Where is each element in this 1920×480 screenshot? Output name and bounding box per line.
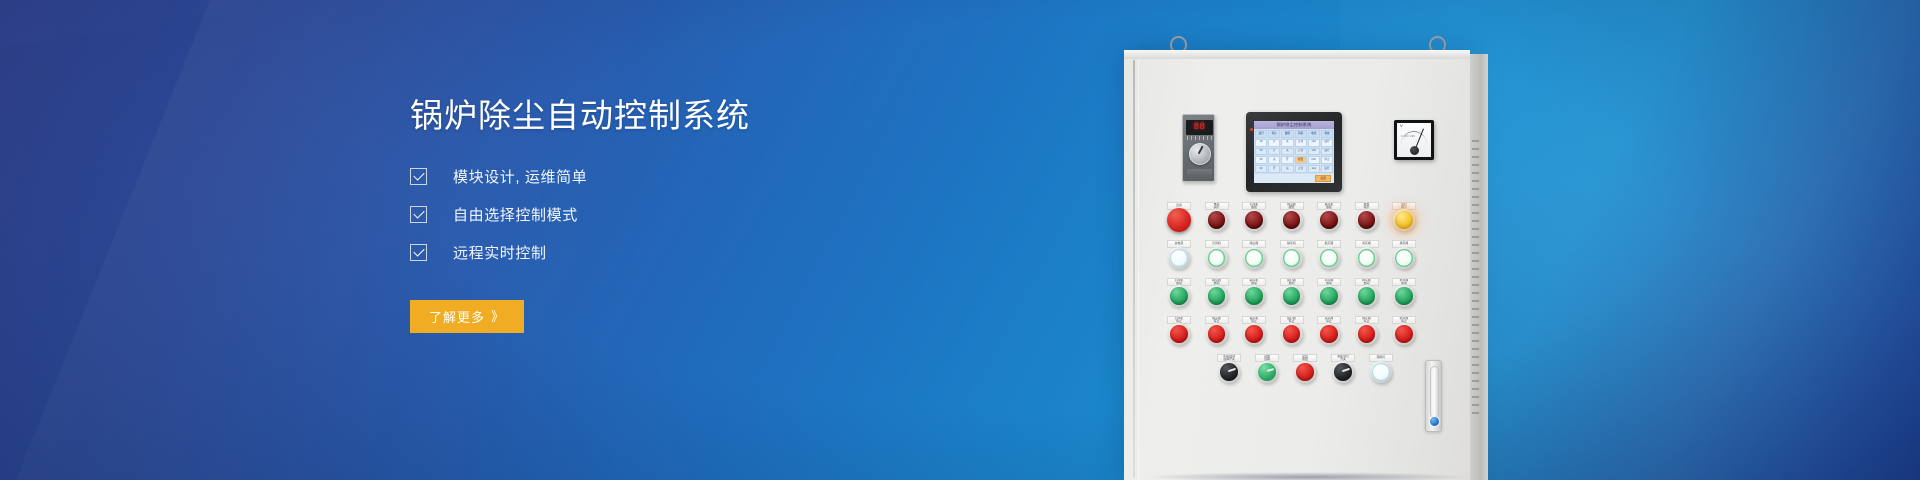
controller-display: 88	[1186, 120, 1213, 135]
button-row-stop: 引风机 停止 除尘器 停止 输灰机 停止	[1166, 316, 1456, 346]
list-item: 自由选择控制模式	[410, 204, 890, 226]
button-cap[interactable]	[1320, 249, 1338, 267]
table-header-cell: 状态	[1321, 130, 1333, 138]
digital-controller[interactable]: 88	[1182, 114, 1215, 182]
table-header-cell: 风机	[1295, 130, 1307, 138]
button-cap[interactable]	[1320, 211, 1338, 229]
button-row-selectors: 手动/自动 选择开关 就地 远程 复位 按钮	[1166, 354, 1456, 384]
cabinet-body: 88 锅炉除尘控制系统 运行 停止 故障	[1124, 50, 1470, 480]
page-title: 锅炉除尘自动控制系统	[410, 96, 890, 136]
feature-label: 自由选择控制模式	[453, 204, 578, 225]
push-button-main-power[interactable]: 总电源	[1166, 240, 1192, 270]
table-cell: 正常	[1295, 139, 1307, 147]
push-button-fan-fault[interactable]: 引风机 故障	[1241, 202, 1267, 232]
push-button-estop[interactable]: 急停	[1166, 202, 1192, 232]
table-cell: 12A	[1308, 139, 1320, 147]
button-tag-text: 照明灯	[1377, 356, 1386, 359]
cabinet-door-seam	[1133, 60, 1135, 478]
push-button-conveyor-stop[interactable]: 输灰机 停止	[1241, 316, 1267, 346]
button-tag-text: 引风机	[1212, 242, 1221, 245]
button-cap[interactable]	[1170, 325, 1188, 343]
table-cell: 4#	[1255, 165, 1267, 173]
push-button-rapper-stop[interactable]: 振打器 停止	[1279, 316, 1305, 346]
analog-voltmeter: V 0 100 200	[1394, 120, 1434, 160]
door-lock-icon[interactable]	[1430, 417, 1439, 426]
button-cap[interactable]	[1283, 211, 1301, 229]
push-button-reset[interactable]: 复位 按钮	[1292, 354, 1318, 384]
hmi-title-bar: 锅炉除尘控制系统	[1254, 121, 1334, 129]
button-cap[interactable]	[1208, 325, 1226, 343]
check-icon	[410, 168, 427, 185]
selector-cap[interactable]	[1258, 363, 1276, 381]
hmi-power-led-icon	[1250, 128, 1253, 131]
push-button-air-valve-start[interactable]: 补风阀 启动	[1391, 278, 1417, 308]
selector-switch-manual-auto[interactable]: 手动/自动 选择开关	[1216, 354, 1242, 384]
learn-more-label: 了解更多	[429, 307, 485, 326]
push-button-alarm-indicator[interactable]: 报警 指示	[1354, 202, 1380, 232]
hmi-touch-panel[interactable]: 锅炉除尘控制系统 运行 停止 故障 风机 电流 状态 1# 开 关	[1246, 112, 1342, 192]
table-header-cell: 电流	[1308, 130, 1320, 138]
list-item: 远程实时控制	[410, 242, 890, 264]
table-cell: 3#	[1255, 156, 1267, 164]
table-cell: 关	[1281, 139, 1293, 147]
voltmeter-scale-labels: 0 100 200	[1401, 136, 1415, 139]
cabinet-door-handle[interactable]	[1425, 360, 1442, 432]
table-cell: 运行	[1321, 165, 1333, 173]
button-cap[interactable]	[1395, 325, 1413, 343]
push-button-air-valve-stop[interactable]: 补风阀 停止	[1391, 316, 1417, 346]
push-button-work-light[interactable]: 照明灯	[1368, 354, 1394, 384]
table-cell: 开	[1281, 156, 1293, 164]
selector-cap[interactable]	[1334, 363, 1352, 381]
button-cap[interactable]	[1283, 287, 1301, 305]
push-button-conveyor-fault[interactable]: 输灰机 故障	[1316, 202, 1342, 232]
push-button-collector-start[interactable]: 除尘器 启动	[1204, 278, 1230, 308]
table-cell: 00A	[1308, 156, 1320, 164]
vignette-overlay	[0, 0, 1920, 480]
push-button-ash-valve-indicator[interactable]: 排灰阀	[1391, 240, 1417, 270]
learn-more-button[interactable]: 了解更多 》	[410, 300, 524, 333]
table-cell: 运行	[1321, 139, 1333, 147]
controller-display-value: 88	[1194, 123, 1206, 132]
button-cap[interactable]	[1372, 363, 1390, 381]
instrument-row: 88 锅炉除尘控制系统 运行 停止 故障	[1176, 114, 1446, 192]
feature-list: 模块设计, 运维简单 自由选择控制模式 远程实时控制	[410, 166, 890, 264]
table-cell: 关	[1281, 165, 1293, 173]
hmi-data-table: 运行 停止 故障 风机 电流 状态 1# 开 关 正常 12A 运行	[1254, 129, 1334, 174]
hmi-screen[interactable]: 锅炉除尘控制系统 运行 停止 故障 风机 电流 状态 1# 开 关	[1254, 121, 1334, 183]
push-button-conveyor-start[interactable]: 输灰机 启动	[1241, 278, 1267, 308]
button-cap[interactable]	[1320, 325, 1338, 343]
cabinet-side-panel	[1470, 54, 1488, 480]
push-button-grid: 急停 电源 指示 引风机 故障 除尘器	[1166, 202, 1456, 392]
button-cap[interactable]	[1208, 249, 1226, 267]
button-cap[interactable]	[1170, 287, 1188, 305]
table-cell: 开	[1268, 165, 1280, 173]
table-cell: 关	[1268, 156, 1280, 164]
button-tag-text: 振打器	[1325, 242, 1334, 245]
push-button-cleaning-valve-start[interactable]: 清灰阀 启动	[1316, 278, 1342, 308]
push-button-collector-indicator[interactable]: 除尘器	[1241, 240, 1267, 270]
hero-copy-block: 锅炉除尘自动控制系统 模块设计, 运维简单 自由选择控制模式 远程实时控制 了解…	[410, 96, 890, 333]
table-cell: 1#	[1255, 139, 1267, 147]
control-cabinet-image: 88 锅炉除尘控制系统 运行 停止 故障	[1124, 36, 1504, 480]
cabinet-top-rim	[1124, 50, 1470, 59]
button-cap[interactable]	[1283, 249, 1301, 267]
table-cell: 开	[1268, 148, 1280, 156]
button-cap[interactable]	[1283, 325, 1301, 343]
check-icon	[410, 244, 427, 261]
button-cap[interactable]	[1358, 211, 1376, 229]
table-cell-alarm: 报警	[1295, 156, 1307, 164]
table-header-cell: 停止	[1268, 130, 1280, 138]
table-cell: 停止	[1321, 156, 1333, 164]
table-cell: 关	[1281, 148, 1293, 156]
selector-switch-local-remote[interactable]: 就地 远程	[1254, 354, 1280, 384]
hmi-footer-bar: 设置	[1254, 174, 1334, 183]
button-row-emergency: 急停 电源 指示 引风机 故障 除尘器	[1166, 202, 1456, 232]
button-row-white-indicators: 总电源 引风机 除尘器 输灰机	[1166, 240, 1456, 270]
button-row-start: 引风机 启动 除尘器 启动 输灰机 启动	[1166, 278, 1456, 308]
table-header-cell: 运行	[1255, 130, 1267, 138]
cabinet-door-seam-highlight	[1138, 60, 1139, 478]
button-cap[interactable]	[1245, 287, 1263, 305]
table-header-cell: 故障	[1281, 130, 1293, 138]
table-cell: 正常	[1295, 165, 1307, 173]
cabinet-ground-shadow	[1142, 472, 1472, 480]
button-cap[interactable]	[1170, 249, 1188, 267]
button-cap[interactable]	[1358, 249, 1376, 267]
push-button-collector-stop[interactable]: 除尘器 停止	[1204, 316, 1230, 346]
push-button-fan-stop[interactable]: 引风机 停止	[1166, 316, 1192, 346]
push-button-run-indicator[interactable]: 运行 指示	[1391, 202, 1417, 232]
button-cap[interactable]	[1167, 208, 1191, 232]
button-tag-text: 排灰阀	[1400, 242, 1409, 245]
button-cap[interactable]	[1320, 287, 1338, 305]
selector-cap[interactable]	[1220, 363, 1238, 381]
push-button-conveyor-indicator[interactable]: 输灰机	[1279, 240, 1305, 270]
button-tag-text: 总电源	[1175, 242, 1184, 245]
button-cap[interactable]	[1358, 325, 1376, 343]
controller-scale-ticks	[1187, 136, 1212, 140]
hero-banner: 锅炉除尘自动控制系统 模块设计, 运维简单 自由选择控制模式 远程实时控制 了解…	[0, 0, 1920, 480]
selector-switch-mute-lamp-test[interactable]: 消音/试灯 开关	[1330, 354, 1356, 384]
push-button-fan-indicator[interactable]: 引风机	[1204, 240, 1230, 270]
button-cap[interactable]	[1208, 211, 1226, 229]
push-button-collector-fault[interactable]: 除尘器 故障	[1279, 202, 1305, 232]
hmi-title-text: 锅炉除尘控制系统	[1276, 123, 1311, 127]
controller-rotary-knob[interactable]	[1189, 143, 1211, 165]
table-cell: 运行	[1321, 148, 1333, 156]
feature-label: 远程实时控制	[453, 242, 547, 263]
feature-label: 模块设计, 运维简单	[453, 166, 587, 187]
push-button-rapper-start[interactable]: 振打器 启动	[1279, 278, 1305, 308]
handle-bar	[1430, 366, 1439, 418]
table-cell: 2#	[1255, 148, 1267, 156]
button-tag-text: 输灰机	[1287, 242, 1296, 245]
push-button-cleaning-valve-stop[interactable]: 清灰阀 停止	[1316, 316, 1342, 346]
button-cap[interactable]	[1395, 249, 1413, 267]
button-tag-text: 清灰阀	[1362, 242, 1371, 245]
voltmeter-unit-label: V	[1400, 124, 1403, 128]
table-cell: 正常	[1295, 148, 1307, 156]
button-cap[interactable]	[1245, 325, 1263, 343]
button-tag-text: 除尘器	[1250, 242, 1259, 245]
voltmeter-face: V 0 100 200	[1397, 123, 1431, 157]
voltmeter-hub	[1410, 146, 1419, 155]
check-icon	[410, 206, 427, 223]
push-button-rapper-indicator[interactable]: 振打器	[1316, 240, 1342, 270]
list-item: 模块设计, 运维简单	[410, 166, 890, 188]
push-button-cleaning-valve-indicator[interactable]: 清灰阀	[1354, 240, 1380, 270]
button-cap[interactable]	[1245, 249, 1263, 267]
double-chevron-right-icon: 》	[491, 310, 505, 323]
button-cap[interactable]	[1395, 287, 1413, 305]
push-button-fan-start[interactable]: 引风机 启动	[1166, 278, 1192, 308]
button-cap[interactable]	[1208, 287, 1226, 305]
hmi-settings-button[interactable]: 设置	[1315, 175, 1331, 182]
controller-base-plate	[1187, 169, 1212, 177]
table-cell: 11A	[1308, 165, 1320, 173]
push-button-power-indicator[interactable]: 电源 指示	[1204, 202, 1230, 232]
button-cap[interactable]	[1395, 211, 1413, 229]
button-cap[interactable]	[1245, 211, 1263, 229]
push-button-ash-valve-start[interactable]: 排灰阀 启动	[1354, 278, 1380, 308]
table-cell: 10A	[1308, 148, 1320, 156]
button-cap[interactable]	[1358, 287, 1376, 305]
push-button-ash-valve-stop[interactable]: 排灰阀 停止	[1354, 316, 1380, 346]
button-cap[interactable]	[1296, 363, 1314, 381]
table-cell: 开	[1268, 139, 1280, 147]
